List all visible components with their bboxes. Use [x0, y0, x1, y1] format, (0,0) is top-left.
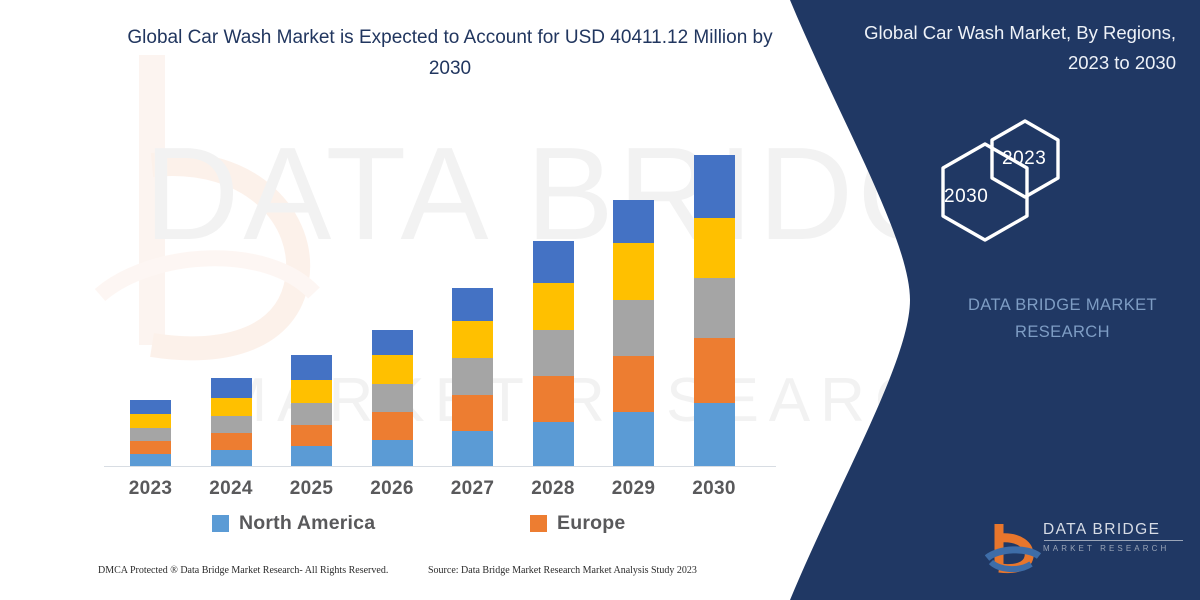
bar-segment-series-4	[452, 321, 493, 358]
right-panel: Global Car Wash Market, By Regions, 2023…	[770, 0, 1200, 600]
x-axis-line	[104, 466, 776, 467]
logo-subtitle: MARKET RESEARCH	[1043, 543, 1188, 554]
chart-area: Global Car Wash Market is Expected to Ac…	[0, 0, 790, 600]
panel-brand: DATA BRIDGE MARKET RESEARCH	[945, 292, 1180, 346]
x-tick-2026: 2026	[352, 478, 432, 500]
bar-2029[interactable]	[613, 200, 654, 466]
panel-brand-line2: RESEARCH	[1015, 323, 1110, 341]
legend-swatch-europe	[530, 515, 547, 532]
chart-legend: North America Europe	[212, 512, 682, 540]
bar-segment-series-3	[613, 300, 654, 356]
bar-segment-north-america	[613, 412, 654, 466]
logo-mark-icon	[985, 518, 1043, 574]
company-logo[interactable]: DATA BRIDGE MARKET RESEARCH	[985, 518, 1185, 574]
bar-segment-north-america	[130, 454, 171, 466]
x-tick-2023: 2023	[111, 478, 191, 500]
bar-segment-europe	[613, 356, 654, 412]
logo-divider	[1044, 540, 1183, 541]
infographic-canvas: DATA BRIDGE MARKET RESEARCH Global Car W…	[0, 0, 1200, 600]
bar-segment-series-4	[694, 218, 735, 278]
bar-segment-series-4	[211, 398, 252, 416]
bar-segment-europe	[694, 338, 735, 403]
bar-segment-europe	[291, 425, 332, 446]
footer-copyright: DMCA Protected ® Data Bridge Market Rese…	[98, 565, 388, 576]
logo-title: DATA BRIDGE	[1043, 520, 1188, 539]
bar-segment-series-5	[533, 241, 574, 283]
legend-swatch-north-america	[212, 515, 229, 532]
panel-brand-line1: DATA BRIDGE MARKET	[968, 296, 1157, 314]
hexagon-label-2023: 2023	[1002, 148, 1046, 170]
bar-segment-north-america	[372, 440, 413, 466]
bar-segment-series-5	[291, 355, 332, 380]
bar-2027[interactable]	[452, 288, 493, 466]
bar-segment-series-4	[533, 283, 574, 330]
bar-segment-series-5	[372, 330, 413, 355]
bar-segment-europe	[211, 433, 252, 450]
bar-2024[interactable]	[211, 378, 252, 466]
x-tick-2028: 2028	[513, 478, 593, 500]
legend-item-europe[interactable]: Europe	[530, 512, 625, 535]
bar-segment-series-3	[533, 330, 574, 376]
bar-segment-europe	[372, 412, 413, 440]
x-tick-2030: 2030	[674, 478, 754, 500]
hexagon-label-2030: 2030	[944, 186, 988, 208]
bar-segment-series-4	[130, 414, 171, 428]
bar-segment-series-4	[372, 355, 413, 384]
bar-segment-north-america	[694, 403, 735, 466]
bar-segment-series-5	[211, 378, 252, 398]
bar-segment-europe	[130, 441, 171, 454]
bar-segment-north-america	[211, 450, 252, 466]
panel-title: Global Car Wash Market, By Regions, 2023…	[821, 18, 1176, 78]
bar-segment-series-3	[372, 384, 413, 412]
bar-segment-series-5	[452, 288, 493, 321]
legend-label-europe: Europe	[557, 512, 625, 535]
legend-item-north-america[interactable]: North America	[212, 512, 375, 535]
bar-segment-series-4	[291, 380, 332, 403]
bar-segment-series-5	[694, 155, 735, 218]
hexagon-group: 2023 2030	[930, 118, 1110, 248]
x-tick-2027: 2027	[433, 478, 513, 500]
bar-segment-north-america	[452, 431, 493, 466]
bar-segment-series-3	[694, 278, 735, 338]
logo-text-block: DATA BRIDGE MARKET RESEARCH	[1043, 520, 1188, 554]
bar-segment-series-4	[613, 243, 654, 300]
bar-2023[interactable]	[130, 400, 171, 466]
legend-label-north-america: North America	[239, 512, 375, 535]
footer: DMCA Protected ® Data Bridge Market Rese…	[0, 565, 790, 587]
x-tick-2024: 2024	[191, 478, 271, 500]
footer-source: Source: Data Bridge Market Research Mark…	[428, 565, 697, 576]
chart-title: Global Car Wash Market is Expected to Ac…	[110, 22, 790, 84]
bar-2025[interactable]	[291, 355, 332, 466]
bar-2030[interactable]	[694, 155, 735, 466]
bar-2026[interactable]	[372, 330, 413, 466]
x-tick-2025: 2025	[272, 478, 352, 500]
bar-segment-europe	[452, 395, 493, 431]
bar-2028[interactable]	[533, 241, 574, 466]
bar-segment-series-3	[211, 416, 252, 433]
bar-segment-north-america	[291, 446, 332, 466]
bar-segment-europe	[533, 376, 574, 422]
x-tick-2029: 2029	[594, 478, 674, 500]
bar-segment-series-5	[130, 400, 171, 414]
bar-segment-series-3	[291, 403, 332, 425]
bar-segment-series-3	[452, 358, 493, 395]
bar-segment-series-3	[130, 428, 171, 441]
bar-segment-north-america	[533, 422, 574, 466]
bar-segment-series-5	[613, 200, 654, 243]
